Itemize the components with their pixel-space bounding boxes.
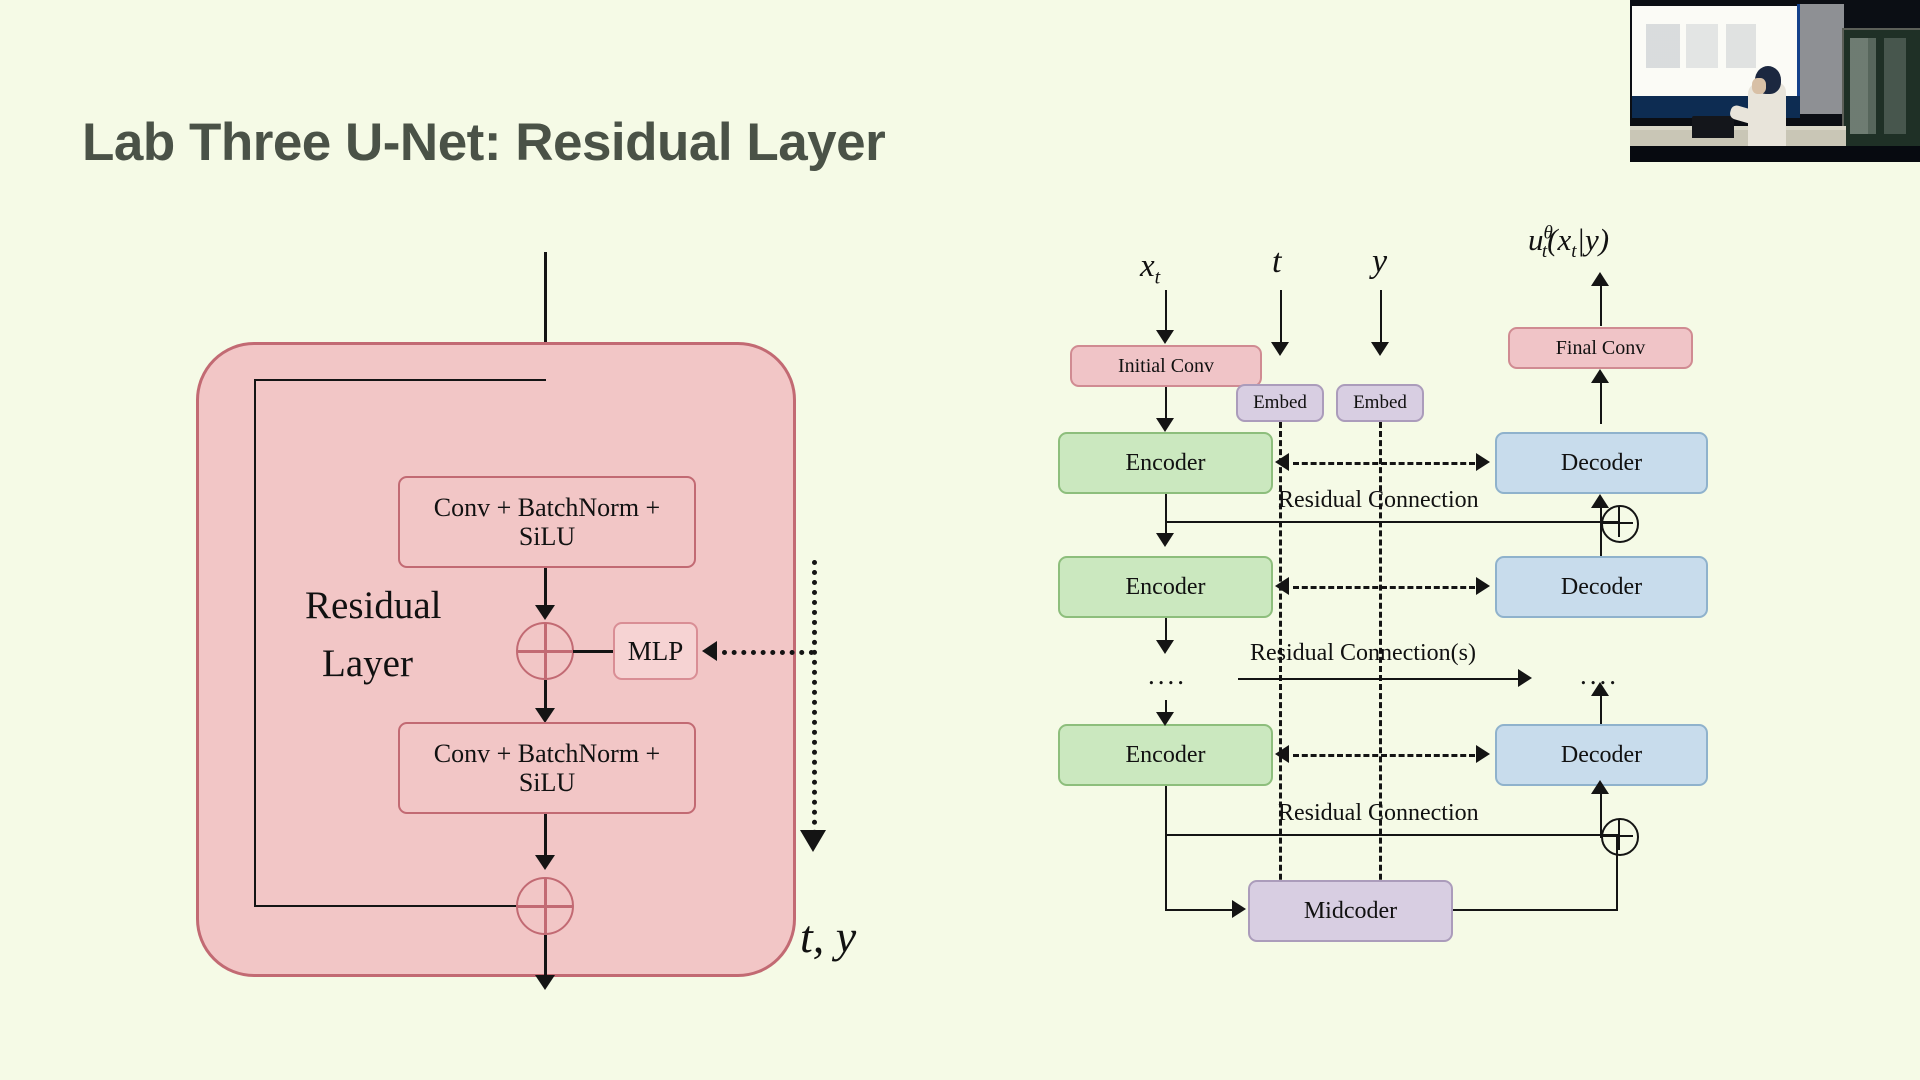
encoder3-to-midcoder-arrow [1232,900,1246,918]
add-operator-bottom [1601,818,1639,856]
add-to-conv2-arrow [535,708,555,723]
y-to-embed-line [1380,290,1382,348]
decoder2-dashed-arrow-right [1476,577,1490,595]
slide-canvas: Lab Three U-Net: Residual Layer Residual… [0,0,1920,1080]
residual-connection-stub-top [1165,494,1167,522]
conv1-to-add-line [544,568,547,610]
skip-connection-top [254,379,546,381]
residual-connection-line-top [1165,521,1618,523]
conv1-to-add-arrow [535,605,555,620]
decoder-3-label: Decoder [1561,742,1642,769]
decoder3-input-arrow [1591,780,1609,794]
conditioning-dashed-line-h [722,650,814,655]
encoder2-dashed-arrow-left [1275,577,1289,595]
decoder-2-label: Decoder [1561,574,1642,601]
encoder1-to-encoder2-arrow [1156,533,1174,547]
conditioning-arrow-down [800,830,826,852]
decoder1-to-finalconv-line [1600,376,1602,424]
decoder-1-label: Decoder [1561,450,1642,477]
encoder-block-3: Encoder [1058,724,1273,786]
add-to-mlp-line [573,650,615,653]
xt-to-initialconv-arrow [1156,330,1174,344]
encoder-3-label: Encoder [1126,742,1206,769]
decoder3-dashed-arrow-right [1476,745,1490,763]
conv-batchnorm-silu-block-1: Conv + BatchNorm + SiLU [398,476,696,568]
unet-architecture-diagram: xt Initial Conv Encoder Encoder Encoder … [1010,0,1920,1080]
output-line [544,935,547,980]
residual-layer-label-line1: Residual [305,583,441,628]
conv-batchnorm-silu-block-2: Conv + BatchNorm + SiLU [398,722,696,814]
add-operator-1 [516,622,574,680]
decoder1-to-finalconv-arrow [1591,369,1609,383]
input-label-xt: xt [1140,248,1160,290]
residual-connection-label-middle: Residual Connection(s) [1250,640,1476,667]
decoder-block-2: Decoder [1495,556,1708,618]
conditioning-arrow-into-mlp [702,641,717,661]
encoder3-to-midcoder-hline [1165,909,1233,911]
encoder1-dashed-arrow-left [1275,453,1289,471]
skip-connection-bottom [254,905,546,907]
midcoder-label: Midcoder [1304,898,1397,925]
dots-to-encoder3-arrow [1156,712,1174,726]
encoder2-decoder2-dashed-link [1293,586,1475,589]
output-arrow [535,975,555,990]
midcoder-block: Midcoder [1248,880,1453,942]
encoder-2-label: Encoder [1126,574,1206,601]
residual-connection-label-top: Residual Connection [1278,487,1479,514]
residual-connection-arrow-middle [1518,669,1532,687]
residual-connection-line-middle [1238,678,1520,680]
encoder3-decoder3-dashed-link [1293,754,1475,757]
encoder-1-label: Encoder [1126,450,1206,477]
midcoder-to-add-vline [1616,834,1618,911]
midcoder-to-add-hline [1453,909,1618,911]
mlp-label: MLP [628,636,684,666]
finalconv-to-output-line [1600,280,1602,326]
input-label-y: y [1372,243,1387,281]
residual-layer-label-line2: Layer [322,641,413,686]
residual-connection-line-bottom [1165,834,1618,836]
skip-connection-left [254,379,256,906]
t-to-embed-line [1280,290,1282,348]
decoder2-to-decoder1-arrow [1591,494,1609,508]
input-label-t: t [1272,243,1281,281]
encoder-block-2: Encoder [1058,556,1273,618]
decoder1-dashed-arrow-right [1476,453,1490,471]
conv-block-1-label: Conv + BatchNorm + SiLU [412,493,682,551]
encoder1-decoder1-dashed-link [1293,462,1475,465]
decoder-block-1: Decoder [1495,432,1708,494]
residual-connection-stub-bottom [1165,786,1167,836]
residual-layer-diagram: Residual Layer Conv + BatchNorm + SiLU M… [0,0,900,1080]
initialconv-to-encoder1-arrow [1156,418,1174,432]
residual-connection-label-bottom: Residual Connection [1278,800,1479,827]
initial-conv-label: Initial Conv [1118,355,1214,377]
conv-block-2-label: Conv + BatchNorm + SiLU [412,739,682,797]
embed-block-t: Embed [1236,384,1324,422]
encoder3-dashed-arrow-left [1275,745,1289,763]
output-label-ut: uθt(xt|y) [1528,222,1609,263]
embed-y-label: Embed [1353,392,1407,413]
add-operator-top [1601,505,1639,543]
embed-block-y: Embed [1336,384,1424,422]
encoder3-to-midcoder-vline [1165,834,1167,911]
mlp-block: MLP [613,622,698,680]
initial-conv-block: Initial Conv [1070,345,1262,387]
t-to-embed-arrow [1271,342,1289,356]
embed-t-label: Embed [1253,392,1307,413]
add-operator-2 [516,877,574,935]
dots-to-decoder2-arrow [1591,682,1609,696]
final-conv-block: Final Conv [1508,327,1693,369]
encoder-ellipsis: .... [1148,660,1187,691]
y-to-embed-arrow [1371,342,1389,356]
conditioning-label: t, y [800,910,856,963]
finalconv-to-output-arrow [1591,272,1609,286]
final-conv-label: Final Conv [1556,337,1645,359]
encoder2-to-dots-arrow [1156,640,1174,654]
conditioning-dashed-line-v [812,560,817,835]
conv2-to-add2-arrow [535,855,555,870]
decoder-block-3: Decoder [1495,724,1708,786]
conv2-to-add2-line [544,814,547,859]
encoder-block-1: Encoder [1058,432,1273,494]
